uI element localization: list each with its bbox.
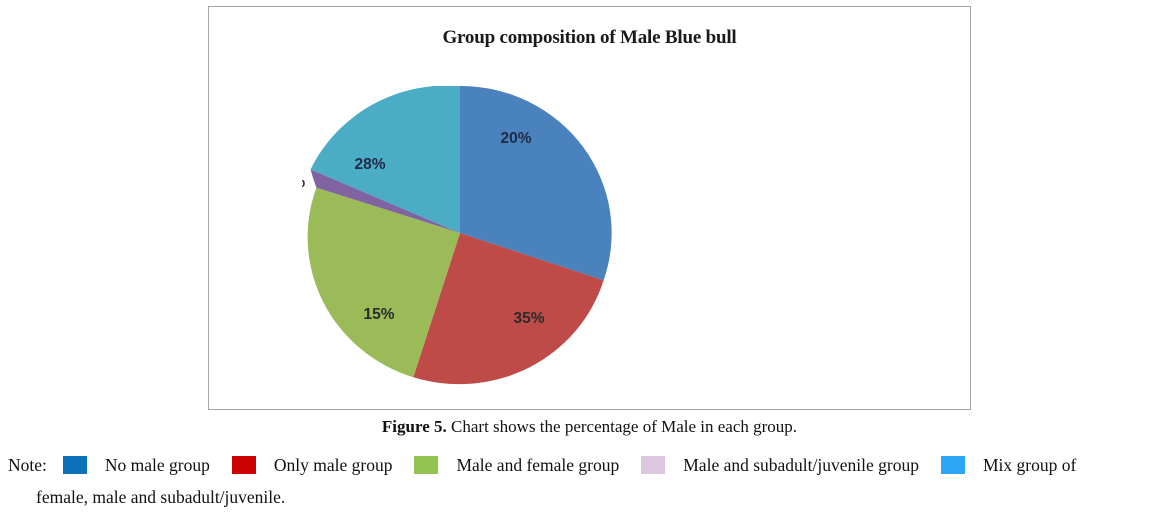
pie-label-male-and-subadult-juvenile-group: 2%: [302, 174, 305, 191]
legend-item-male-and-female-group: Male and female group: [414, 450, 641, 480]
figure-caption: Figure 5. Chart shows the percentage of …: [208, 417, 971, 437]
legend-label: Only male group: [274, 450, 393, 480]
note-block: Note: No male group Only male group Male…: [8, 450, 1166, 512]
legend-row: Note: No male group Only male group Male…: [8, 450, 1166, 480]
legend-swatch-icon: [232, 456, 256, 474]
chart-title: Group composition of Male Blue bull: [209, 27, 970, 49]
pie-slices: [308, 86, 612, 384]
note-continuation: female, male and subadult/juvenile.: [36, 482, 1166, 512]
pie-chart: 20% 35% 15% 2% 28%: [302, 86, 622, 388]
legend-swatch-icon: [414, 456, 438, 474]
legend-label: Male and female group: [456, 450, 619, 480]
figure-caption-label: Figure 5.: [382, 417, 447, 436]
legend-label: Male and subadult/juvenile group: [683, 450, 919, 480]
pie-label-only-male-group: 35%: [513, 310, 544, 327]
pie-label-male-and-female-group: 15%: [363, 306, 394, 323]
pie-label-no-male-group: 20%: [500, 130, 531, 147]
legend-label: No male group: [105, 450, 210, 480]
legend-item-only-male-group: Only male group: [232, 450, 415, 480]
legend-swatch-icon: [63, 456, 87, 474]
legend-item-mix-group: Mix group of: [941, 450, 1098, 480]
legend-label: Mix group of: [983, 450, 1076, 480]
pie-label-mix-group: 28%: [354, 156, 385, 173]
legend-swatch-icon: [941, 456, 965, 474]
pie-chart-svg: 20% 35% 15% 2% 28%: [302, 86, 622, 388]
chart-frame: Group composition of Male Blue bull 20% …: [208, 6, 971, 410]
figure-caption-text: Chart shows the percentage of Male in ea…: [447, 417, 797, 436]
legend-item-no-male-group: No male group: [63, 450, 232, 480]
legend-item-male-and-subadult-juvenile-group: Male and subadult/juvenile group: [641, 450, 941, 480]
note-label: Note:: [8, 450, 47, 480]
legend-swatch-icon: [641, 456, 665, 474]
